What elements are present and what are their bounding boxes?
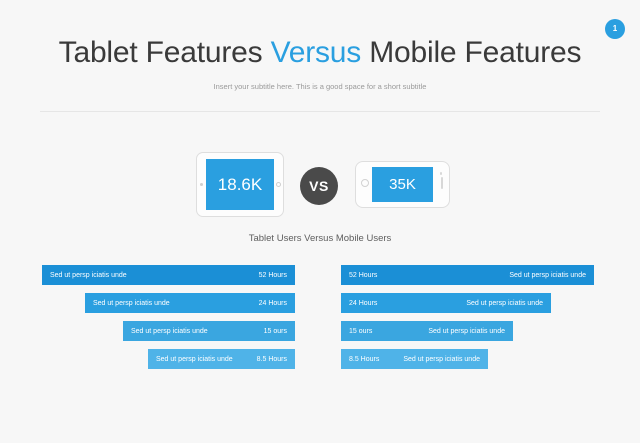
phone-screen-value: 35K <box>372 167 433 202</box>
bar-value: 24 Hours <box>259 300 287 307</box>
page-subtitle: Insert your subtitle here. This is a goo… <box>0 82 640 91</box>
bar-label: Sed ut persp iciatis unde <box>93 300 170 307</box>
bar-row: 15 oursSed ut persp iciatis unde <box>341 321 513 341</box>
phone-camera-icon <box>440 172 443 175</box>
bar-row: Sed ut persp iciatis unde52 Hours <box>42 265 295 285</box>
bar-row: Sed ut persp iciatis unde8.5 Hours <box>148 349 295 369</box>
bar-row: 8.5 HoursSed ut persp iciatis unde <box>341 349 488 369</box>
bar-row: 24 HoursSed ut persp iciatis unde <box>341 293 551 313</box>
bar-row: 52 HoursSed ut persp iciatis unde <box>341 265 594 285</box>
title-text-part2: Mobile Features <box>361 36 581 69</box>
bar-value: 15 ours <box>264 328 287 335</box>
tablet-device-icon: 18.6K <box>196 152 284 217</box>
bar-value: 52 Hours <box>259 272 287 279</box>
bar-value: 8.5 Hours <box>257 356 287 363</box>
bar-row: Sed ut persp iciatis unde24 Hours <box>85 293 295 313</box>
mobile-device-icon: 35K <box>355 161 450 208</box>
versus-badge: VS <box>300 167 338 205</box>
bar-label: Sed ut persp iciatis unde <box>428 328 505 335</box>
bar-row: Sed ut persp iciatis unde15 ours <box>123 321 295 341</box>
bar-label: Sed ut persp iciatis unde <box>50 272 127 279</box>
bar-label: Sed ut persp iciatis unde <box>509 272 586 279</box>
bar-value: 8.5 Hours <box>349 356 379 363</box>
chart-caption: Tablet Users Versus Mobile Users <box>0 233 640 244</box>
header-divider <box>40 111 600 112</box>
bar-value: 15 ours <box>349 328 372 335</box>
title-accent-word: Versus <box>271 36 362 69</box>
bar-label: Sed ut persp iciatis unde <box>156 356 233 363</box>
slide-canvas: 1 Tablet Features Versus Mobile Features… <box>0 0 640 443</box>
phone-speaker-icon <box>441 177 443 189</box>
bar-label: Sed ut persp iciatis unde <box>131 328 208 335</box>
tablet-camera-icon <box>200 183 203 186</box>
bar-value: 24 Hours <box>349 300 377 307</box>
bar-label: Sed ut persp iciatis unde <box>403 356 480 363</box>
tablet-home-button-icon <box>276 182 281 187</box>
phone-home-button-icon <box>361 179 369 187</box>
page-title: Tablet Features Versus Mobile Features <box>0 36 640 70</box>
title-text-part1: Tablet Features <box>59 36 271 69</box>
bar-value: 52 Hours <box>349 272 377 279</box>
tablet-screen-value: 18.6K <box>206 159 274 210</box>
bar-label: Sed ut persp iciatis unde <box>466 300 543 307</box>
devices-comparison-row: 18.6K VS 35K <box>0 150 640 222</box>
